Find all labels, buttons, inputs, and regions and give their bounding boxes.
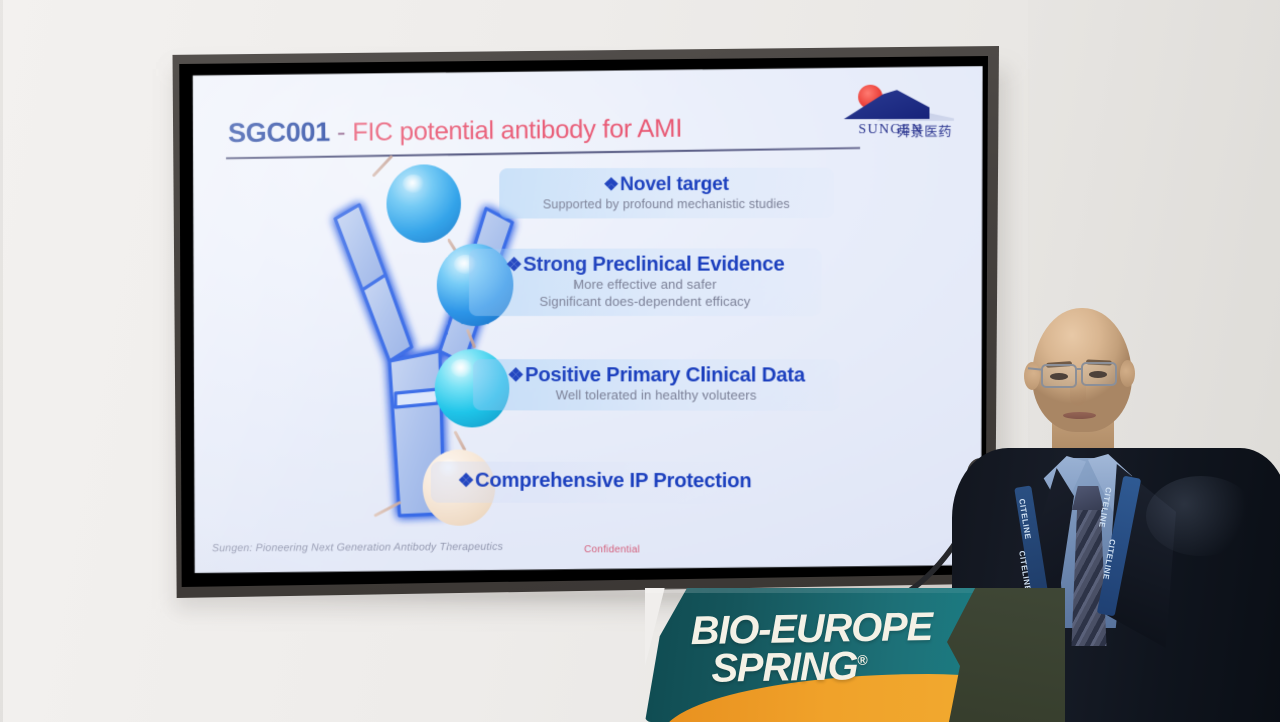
callout-clinical-data: ❖Positive Primary Clinical Data Well tol… <box>473 359 840 410</box>
callout-3-heading-text: Positive Primary Clinical Data <box>525 364 805 386</box>
presentation-screen: SGC001 - FIC potential antibody for AMI … <box>165 46 999 598</box>
callout-4-heading: ❖Comprehensive IP Protection <box>445 470 765 494</box>
sungen-logo: SUNGEN 舜景医药 <box>823 80 958 147</box>
podium-line-2: SPRING® <box>711 646 933 688</box>
logo-mountain-icon <box>844 89 930 120</box>
antigen-sphere-1 <box>386 164 460 242</box>
callout-3-subline-1: Well tolerated in healthy voluteers <box>487 387 825 404</box>
wall-seam-left <box>0 0 3 722</box>
podium-line-2-text: SPRING <box>711 645 858 692</box>
presenter-shoulder-highlight <box>1146 476 1256 556</box>
podium-branding: BIO-EUROPE SPRING® <box>690 608 933 689</box>
callout-2-subline-1: More effective and safer <box>483 277 807 294</box>
presenter-mouth <box>1063 412 1096 419</box>
eyeglasses-lens-right <box>1081 362 1117 386</box>
slide-title: SGC001 - FIC potential antibody for AMI <box>228 112 682 149</box>
podium-right-shadow-panel <box>947 588 1065 722</box>
sphere-specular-1 <box>403 175 425 193</box>
callout-2-heading-text: Strong Preclinical Evidence <box>523 253 784 275</box>
callout-ip-protection: ❖Comprehensive IP Protection <box>431 461 779 503</box>
bullet-diamond-icon-2: ❖ <box>506 254 522 275</box>
callout-1-heading: ❖Novel target <box>513 174 819 197</box>
bullet-diamond-icon-4: ❖ <box>458 470 474 491</box>
callout-3-heading: ❖Positive Primary Clinical Data <box>487 364 825 387</box>
eyeglasses-bridge <box>1076 368 1083 370</box>
presenter-ear-left <box>1024 362 1040 390</box>
conference-scene: SGC001 - FIC potential antibody for AMI … <box>0 0 1280 722</box>
slide-footer-tagline: Sungen: Pioneering Next Generation Antib… <box>212 541 503 555</box>
presenter-nose <box>1070 380 1086 406</box>
slide-title-code: SGC001 <box>228 117 330 148</box>
podium-lectern: BIO-EUROPE SPRING® <box>645 588 1065 722</box>
bullet-diamond-icon-1: ❖ <box>603 174 619 194</box>
callout-4-heading-text: Comprehensive IP Protection <box>475 470 751 493</box>
callout-1-subline-1: Supported by profound mechanistic studie… <box>513 196 819 213</box>
slide-title-dash: - <box>330 117 353 147</box>
callout-preclinical-evidence: ❖Strong Preclinical Evidence More effect… <box>469 248 821 316</box>
callout-2-heading: ❖Strong Preclinical Evidence <box>483 253 807 276</box>
bullet-diamond-icon-3: ❖ <box>508 364 524 385</box>
callout-1-heading-text: Novel target <box>620 174 729 195</box>
logo-chinese-name: 舜景医药 <box>897 121 952 140</box>
registered-mark-icon: ® <box>857 652 866 668</box>
callout-2-subline-2: Significant does-dependent efficacy <box>483 293 807 310</box>
slide-title-rest: FIC potential antibody for AMI <box>352 114 682 146</box>
screen-bezel-inner: SGC001 - FIC potential antibody for AMI … <box>176 56 988 587</box>
slide-footer-confidential: Confidential <box>584 544 640 555</box>
presenter-ear-right <box>1120 360 1135 387</box>
sphere-specular-3 <box>451 359 473 377</box>
callout-novel-target: ❖Novel target Supported by profound mech… <box>499 168 833 219</box>
slide-canvas: SGC001 - FIC potential antibody for AMI … <box>190 66 983 576</box>
